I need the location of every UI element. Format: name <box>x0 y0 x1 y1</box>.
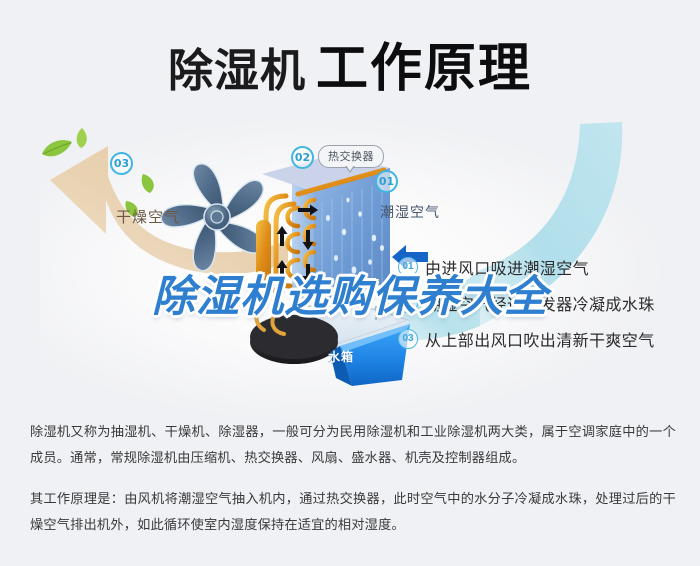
page-title: 除湿机工作原理 <box>0 26 700 101</box>
diagram-badge-01: 01 <box>375 170 398 193</box>
page-title-part2: 工作原理 <box>316 39 532 99</box>
humid-air-label: 潮湿空气 <box>380 202 440 222</box>
body-paragraph-2: 其工作原理是：由风机将潮湿空气抽入机内，通过热交换器，此时空气中的水分子冷凝成水… <box>30 487 676 539</box>
dry-air-label: 干燥空气 <box>116 206 180 227</box>
diagram-badge-02: 02 <box>291 146 314 169</box>
infographic-page: 除湿机工作原理 <box>0 0 700 566</box>
diagram-badge-03: 03 <box>110 152 133 175</box>
heat-exchanger-callout: 热交换器 <box>318 145 384 168</box>
page-title-part1: 除湿机 <box>168 44 306 97</box>
leaf-icon <box>140 172 158 194</box>
overlay-headline: 除湿机选购保养大全 <box>0 262 700 324</box>
water-tank-label: 水箱 <box>328 348 354 365</box>
legend-text-03: 从上部出风口吹出清新干爽空气 <box>425 327 655 351</box>
body-paragraph-1: 除湿机又称为抽湿机、干燥机、除湿器，一般可分为民用除湿机和工业除湿机两大类，属于… <box>30 420 676 472</box>
legend-badge-03: 03 <box>398 329 418 349</box>
leaf-icon <box>40 138 74 160</box>
leaf-icon <box>74 127 90 149</box>
legend-item: 03 从上部出风口吹出清新干爽空气 <box>398 324 688 353</box>
